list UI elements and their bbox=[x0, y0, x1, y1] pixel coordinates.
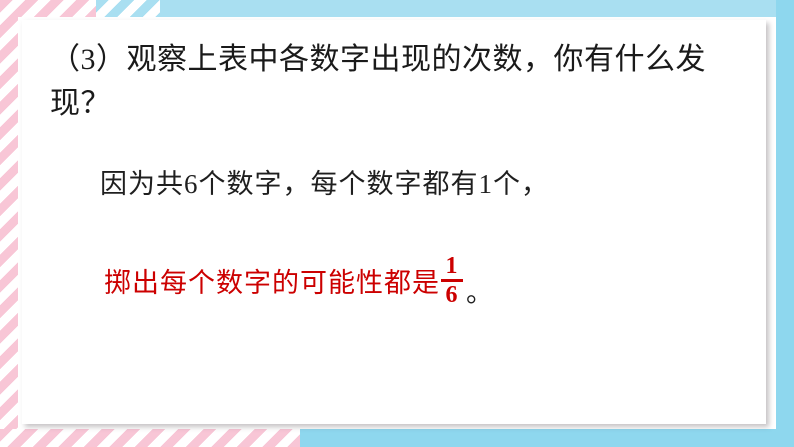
fraction-denominator: 6 bbox=[446, 283, 459, 307]
answer-line-black: 因为共6个数字，每个数字都有1个， bbox=[100, 165, 549, 203]
frame-right-blue-band bbox=[776, 0, 794, 447]
question-text: （3）观察上表中各数字出现的次数，你有什么发现？ bbox=[50, 38, 740, 126]
frame-bottom-blue-band bbox=[300, 429, 794, 447]
answer-line-red: 掷出每个数字的可能性都是 1 6 。 bbox=[104, 256, 494, 309]
content-card: （3）观察上表中各数字出现的次数，你有什么发现？ 因为共6个数字，每个数字都有1… bbox=[22, 20, 766, 424]
frame-top-blue-stripes bbox=[96, 0, 162, 17]
fraction-one-sixth: 1 6 bbox=[441, 254, 463, 307]
answer-red-prefix: 掷出每个数字的可能性都是 bbox=[104, 264, 440, 302]
frame-bottom-decoration bbox=[0, 429, 794, 447]
slide-root: （3）观察上表中各数字出现的次数，你有什么发现？ 因为共6个数字，每个数字都有1… bbox=[0, 0, 794, 447]
frame-top-blue-band bbox=[160, 0, 794, 17]
frame-left-pink-stripes bbox=[0, 0, 18, 447]
fraction-numerator: 1 bbox=[446, 254, 459, 278]
answer-red-suffix: 。 bbox=[466, 274, 494, 312]
